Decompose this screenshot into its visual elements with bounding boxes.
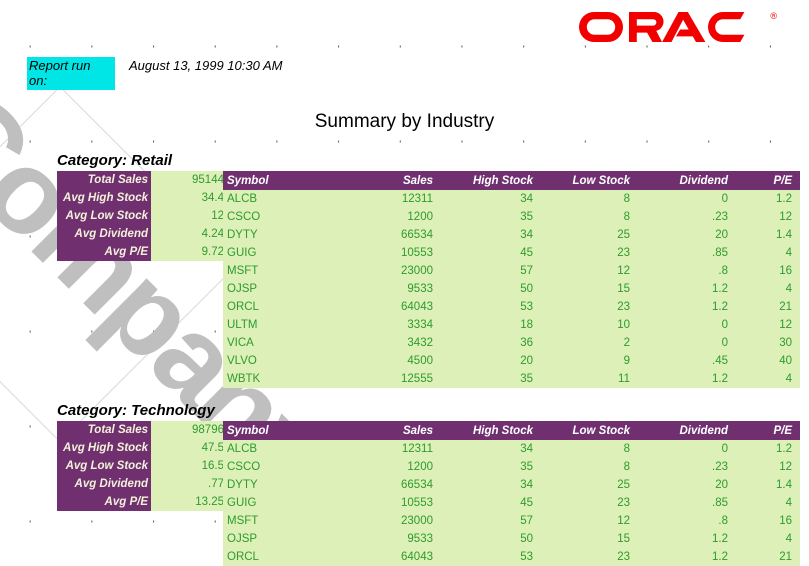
page-title: Summary by Industry xyxy=(0,111,809,133)
summary-label: Total Sales xyxy=(57,421,151,439)
cell-value: 8 xyxy=(541,208,638,226)
cell-value: 57 xyxy=(441,512,541,530)
cell-symbol: DYTY xyxy=(223,476,343,494)
summary-value: 12 xyxy=(151,207,230,225)
cell-value: 12311 xyxy=(343,440,441,458)
summary-row: Total Sales98796 xyxy=(57,421,230,439)
oracle-wordmark-icon xyxy=(576,10,768,44)
cell-value: 50 xyxy=(441,280,541,298)
cell-value: 12 xyxy=(541,512,638,530)
cell-value: 2 xyxy=(541,334,638,352)
cell-value: 40 xyxy=(736,352,800,370)
report-run-value: August 13, 1999 10:30 AM xyxy=(129,58,282,73)
table-row: VLVO4500209.4540 xyxy=(223,352,800,370)
cell-value: 35 xyxy=(441,370,541,388)
cell-value: 23000 xyxy=(343,512,441,530)
cell-value: .23 xyxy=(638,458,736,476)
cell-value: 23 xyxy=(541,244,638,262)
cell-value: 1.2 xyxy=(638,298,736,316)
summary-value: 98796 xyxy=(151,421,230,439)
table-row: OJSP953350151.24 xyxy=(223,530,800,548)
cell-value: 45 xyxy=(441,244,541,262)
column-header-p-e[interactable]: P/E xyxy=(736,171,800,190)
detail-header-row: SymbolSalesHigh StockLow StockDividendP/… xyxy=(223,171,800,190)
summary-value: .77 xyxy=(151,475,230,493)
table-row: ORCL6404353231.221 xyxy=(223,548,800,566)
cell-symbol: MSFT xyxy=(223,512,343,530)
cell-value: 10553 xyxy=(343,244,441,262)
summary-label: Avg Low Stock xyxy=(57,457,151,475)
column-header-dividend[interactable]: Dividend xyxy=(638,171,736,190)
cell-value: 4500 xyxy=(343,352,441,370)
cell-value: 53 xyxy=(441,548,541,566)
detail-table: SymbolSalesHigh StockLow StockDividendP/… xyxy=(223,421,800,566)
cell-value: 64043 xyxy=(343,548,441,566)
table-row: WBTK1255535111.24 xyxy=(223,370,800,388)
cell-symbol: ALCB xyxy=(223,440,343,458)
cell-value: 35 xyxy=(441,458,541,476)
summary-table: Total Sales95144Avg High Stock34.4Avg Lo… xyxy=(57,171,230,261)
cell-value: 20 xyxy=(638,476,736,494)
table-row: GUIG105534523.854 xyxy=(223,244,800,262)
cell-value: 1.4 xyxy=(736,226,800,244)
summary-row: Avg Dividend4.24 xyxy=(57,225,230,243)
cell-symbol: OJSP xyxy=(223,280,343,298)
cell-value: 12 xyxy=(736,316,800,334)
cell-value: 4 xyxy=(736,280,800,298)
cell-value: 1200 xyxy=(343,208,441,226)
cell-value: 34 xyxy=(441,226,541,244)
column-header-symbol[interactable]: Symbol xyxy=(223,421,343,440)
cell-value: 34 xyxy=(441,440,541,458)
column-header-dividend[interactable]: Dividend xyxy=(638,421,736,440)
detail-table: SymbolSalesHigh StockLow StockDividendP/… xyxy=(223,171,800,388)
cell-value: 4 xyxy=(736,494,800,512)
cell-value: 18 xyxy=(441,316,541,334)
cell-symbol: ULTM xyxy=(223,316,343,334)
column-header-p-e[interactable]: P/E xyxy=(736,421,800,440)
summary-row: Avg High Stock34.4 xyxy=(57,189,230,207)
table-row: DYTY665343425201.4 xyxy=(223,226,800,244)
summary-table: Total Sales98796Avg High Stock47.5Avg Lo… xyxy=(57,421,230,511)
summary-value: 9.72 xyxy=(151,243,230,261)
cell-value: 0 xyxy=(638,190,736,208)
cell-value: 1.4 xyxy=(736,476,800,494)
summary-row: Avg Dividend.77 xyxy=(57,475,230,493)
category-title: Category: Retail xyxy=(57,152,172,169)
cell-value: 11 xyxy=(541,370,638,388)
table-row: CSCO1200358.2312 xyxy=(223,208,800,226)
cell-value: .85 xyxy=(638,494,736,512)
cell-value: 1.2 xyxy=(638,530,736,548)
cell-symbol: ALCB xyxy=(223,190,343,208)
cell-value: 25 xyxy=(541,226,638,244)
cell-value: 4 xyxy=(736,370,800,388)
table-row: ORCL6404353231.221 xyxy=(223,298,800,316)
cell-value: 30 xyxy=(736,334,800,352)
cell-value: 34 xyxy=(441,476,541,494)
cell-value: 35 xyxy=(441,208,541,226)
column-header-high-stock[interactable]: High Stock xyxy=(441,171,541,190)
summary-row: Avg P/E13.25 xyxy=(57,493,230,511)
category-title: Category: Technology xyxy=(57,402,215,419)
column-header-sales[interactable]: Sales xyxy=(343,171,441,190)
table-row: CSCO1200358.2312 xyxy=(223,458,800,476)
cell-value: 20 xyxy=(638,226,736,244)
cell-value: 16 xyxy=(736,262,800,280)
cell-value: 23 xyxy=(541,494,638,512)
cell-value: .8 xyxy=(638,512,736,530)
cell-symbol: MSFT xyxy=(223,262,343,280)
cell-value: 34 xyxy=(441,190,541,208)
table-row: VICA3432362030 xyxy=(223,334,800,352)
cell-value: 12311 xyxy=(343,190,441,208)
column-header-symbol[interactable]: Symbol xyxy=(223,171,343,190)
summary-value: 95144 xyxy=(151,171,230,189)
table-row: MSFT230005712.816 xyxy=(223,512,800,530)
cell-value: 9533 xyxy=(343,280,441,298)
cell-symbol: DYTY xyxy=(223,226,343,244)
cell-symbol: CSCO xyxy=(223,208,343,226)
cell-value: 3334 xyxy=(343,316,441,334)
cell-value: 12555 xyxy=(343,370,441,388)
table-row: ULTM33341810012 xyxy=(223,316,800,334)
summary-row: Avg Low Stock12 xyxy=(57,207,230,225)
cell-value: 8 xyxy=(541,440,638,458)
summary-value: 4.24 xyxy=(151,225,230,243)
cell-value: 0 xyxy=(638,316,736,334)
summary-label: Avg Low Stock xyxy=(57,207,151,225)
table-row: GUIG105534523.854 xyxy=(223,494,800,512)
cell-symbol: ORCL xyxy=(223,548,343,566)
cell-value: 50 xyxy=(441,530,541,548)
cell-symbol: WBTK xyxy=(223,370,343,388)
cell-value: 10553 xyxy=(343,494,441,512)
summary-value: 34.4 xyxy=(151,189,230,207)
column-header-low-stock[interactable]: Low Stock xyxy=(541,421,638,440)
cell-value: 1200 xyxy=(343,458,441,476)
cell-symbol: CSCO xyxy=(223,458,343,476)
cell-value: 10 xyxy=(541,316,638,334)
cell-value: 1.2 xyxy=(736,440,800,458)
summary-value: 16.5 xyxy=(151,457,230,475)
cell-value: 53 xyxy=(441,298,541,316)
cell-value: 1.2 xyxy=(736,190,800,208)
category-group: Category: RetailTotal Sales95144Avg High… xyxy=(50,152,172,171)
column-header-low-stock[interactable]: Low Stock xyxy=(541,171,638,190)
category-group: Category: TechnologyTotal Sales98796Avg … xyxy=(50,402,215,421)
cell-value: 15 xyxy=(541,530,638,548)
cell-value: 21 xyxy=(736,298,800,316)
cell-value: 20 xyxy=(441,352,541,370)
cell-value: 66534 xyxy=(343,226,441,244)
cell-value: 1.2 xyxy=(638,280,736,298)
cell-value: 23 xyxy=(541,548,638,566)
summary-label: Total Sales xyxy=(57,171,151,189)
summary-label: Avg Dividend xyxy=(57,475,151,493)
cell-value: 8 xyxy=(541,458,638,476)
cell-value: 0 xyxy=(638,334,736,352)
cell-value: 23 xyxy=(541,298,638,316)
summary-label: Avg P/E xyxy=(57,493,151,511)
cell-value: 3432 xyxy=(343,334,441,352)
cell-value: 1.2 xyxy=(638,370,736,388)
cell-symbol: OJSP xyxy=(223,530,343,548)
cell-value: 1.2 xyxy=(638,548,736,566)
cell-value: 36 xyxy=(441,334,541,352)
summary-row: Total Sales95144 xyxy=(57,171,230,189)
cell-value: 8 xyxy=(541,190,638,208)
oracle-logo: ® xyxy=(576,10,777,44)
summary-label: Avg P/E xyxy=(57,243,151,261)
registered-mark: ® xyxy=(770,12,777,21)
summary-value: 13.25 xyxy=(151,493,230,511)
cell-value: 15 xyxy=(541,280,638,298)
cell-value: 23000 xyxy=(343,262,441,280)
watermark-frame xyxy=(0,86,238,442)
summary-value: 47.5 xyxy=(151,439,230,457)
cell-value: 12 xyxy=(541,262,638,280)
report-run-label: Report run on: xyxy=(27,57,115,90)
cell-symbol: GUIG xyxy=(223,244,343,262)
report-run-line: Report run on: August 13, 1999 10:30 AM xyxy=(27,57,282,90)
column-header-sales[interactable]: Sales xyxy=(343,421,441,440)
cell-value: 16 xyxy=(736,512,800,530)
table-row: ALCB1231134801.2 xyxy=(223,190,800,208)
column-header-high-stock[interactable]: High Stock xyxy=(441,421,541,440)
cell-value: .8 xyxy=(638,262,736,280)
cell-value: 9 xyxy=(541,352,638,370)
cell-value: 12 xyxy=(736,208,800,226)
cell-symbol: VLVO xyxy=(223,352,343,370)
cell-value: 66534 xyxy=(343,476,441,494)
table-row: MSFT230005712.816 xyxy=(223,262,800,280)
summary-row: Avg Low Stock16.5 xyxy=(57,457,230,475)
cell-value: 12 xyxy=(736,458,800,476)
cell-value: .23 xyxy=(638,208,736,226)
cell-symbol: VICA xyxy=(223,334,343,352)
cell-value: 21 xyxy=(736,548,800,566)
summary-label: Avg High Stock xyxy=(57,189,151,207)
cell-symbol: GUIG xyxy=(223,494,343,512)
summary-label: Avg Dividend xyxy=(57,225,151,243)
detail-header-row: SymbolSalesHigh StockLow StockDividendP/… xyxy=(223,421,800,440)
cell-symbol: ORCL xyxy=(223,298,343,316)
table-row: ALCB1231134801.2 xyxy=(223,440,800,458)
summary-row: Avg High Stock47.5 xyxy=(57,439,230,457)
cell-value: 4 xyxy=(736,244,800,262)
cell-value: .45 xyxy=(638,352,736,370)
cell-value: 25 xyxy=(541,476,638,494)
cell-value: 64043 xyxy=(343,298,441,316)
cell-value: 57 xyxy=(441,262,541,280)
cell-value: 0 xyxy=(638,440,736,458)
cell-value: 45 xyxy=(441,494,541,512)
table-row: DYTY665343425201.4 xyxy=(223,476,800,494)
cell-value: 4 xyxy=(736,530,800,548)
cell-value: .85 xyxy=(638,244,736,262)
table-row: OJSP953350151.24 xyxy=(223,280,800,298)
cell-value: 9533 xyxy=(343,530,441,548)
summary-label: Avg High Stock xyxy=(57,439,151,457)
summary-row: Avg P/E9.72 xyxy=(57,243,230,261)
